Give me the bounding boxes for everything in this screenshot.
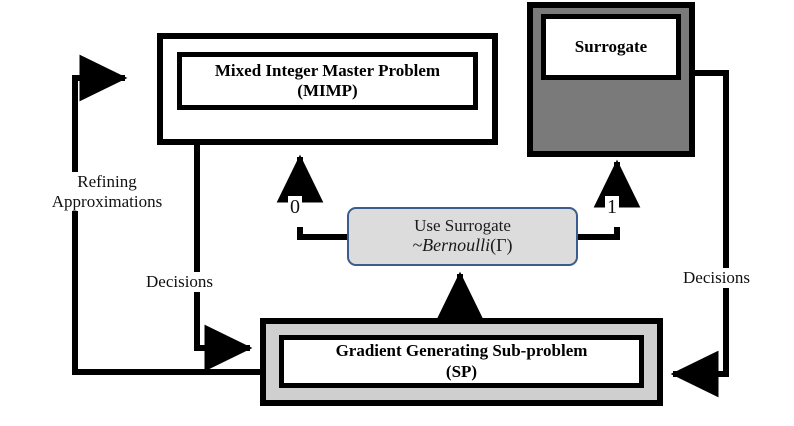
node-gradient-generating-subproblem[interactable]: Gradient Generating Sub-problem (SP) bbox=[260, 318, 663, 406]
node-surrogate[interactable]: Surrogate bbox=[527, 2, 695, 157]
node-bernoulli-label-line1: Use Surrogate bbox=[414, 217, 511, 236]
edge-branch-zero bbox=[300, 157, 347, 237]
node-sp-label-line2: (SP) bbox=[446, 362, 477, 382]
edge-label-refining-line2: Approximations bbox=[32, 192, 182, 212]
node-mimp-inner: Mixed Integer Master Problem (MIMP) bbox=[177, 52, 478, 110]
node-bernoulli-distribution: ~Bernoulli bbox=[412, 235, 490, 255]
edge-label-refining-approximations: Refining Approximations bbox=[32, 172, 182, 211]
node-sp-inner: Gradient Generating Sub-problem (SP) bbox=[279, 335, 644, 388]
edge-label-refining-line1: Refining bbox=[32, 172, 182, 192]
node-bernoulli-label-line2: ~Bernoulli(Γ) bbox=[412, 236, 512, 256]
node-sp-label-line1: Gradient Generating Sub-problem bbox=[336, 341, 588, 361]
node-mimp-label-line1: Mixed Integer Master Problem bbox=[215, 61, 440, 81]
edge-label-branch-zero: 0 bbox=[288, 196, 302, 219]
node-mimp-label-line2: (MIMP) bbox=[297, 81, 357, 101]
node-mixed-integer-master-problem[interactable]: Mixed Integer Master Problem (MIMP) bbox=[157, 33, 498, 145]
edge-decisions-left bbox=[197, 145, 250, 348]
edge-label-branch-one: 1 bbox=[605, 196, 619, 219]
node-surrogate-label: Surrogate bbox=[575, 37, 647, 57]
node-surrogate-header: Surrogate bbox=[541, 14, 681, 80]
edge-label-decisions-right: Decisions bbox=[683, 268, 750, 288]
edge-label-decisions-left: Decisions bbox=[146, 272, 213, 292]
node-bernoulli-parameter: (Γ) bbox=[490, 235, 512, 255]
node-use-surrogate-bernoulli[interactable]: Use Surrogate ~Bernoulli(Γ) bbox=[347, 207, 578, 266]
diagram-canvas: Mixed Integer Master Problem (MIMP) Surr… bbox=[0, 0, 794, 426]
